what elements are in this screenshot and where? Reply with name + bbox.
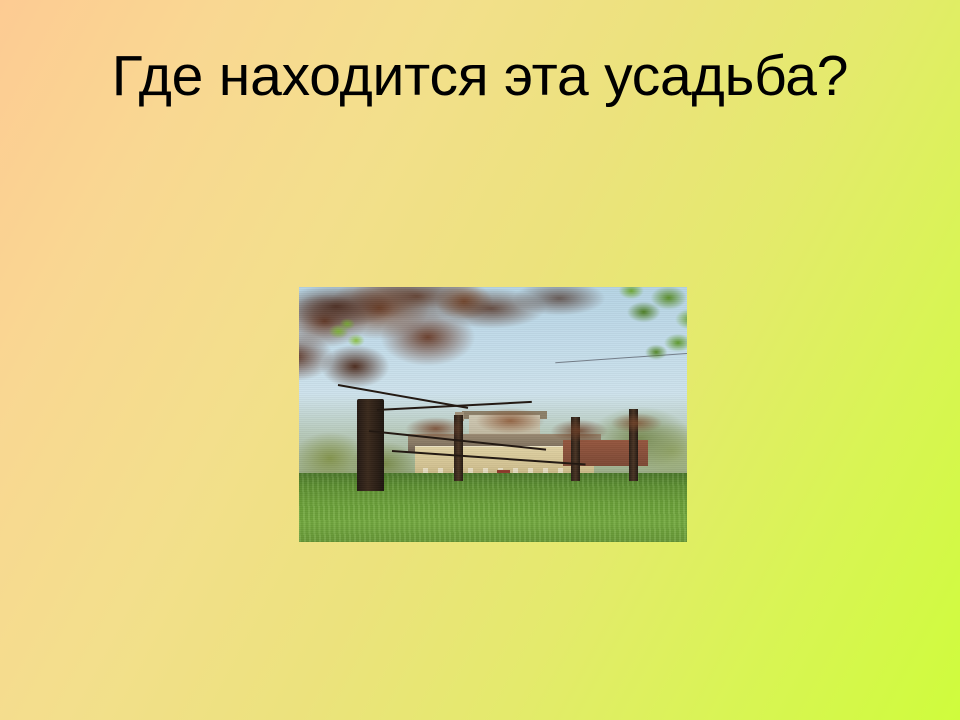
title-block: Где находится эта усадьба?	[60, 46, 900, 108]
presentation-slide: Где находится эта усадьба?	[0, 0, 960, 720]
photo-canvas	[299, 287, 687, 542]
page-title: Где находится эта усадьба?	[60, 46, 900, 108]
slide-photo	[299, 287, 687, 542]
right-green-canopy	[547, 287, 687, 397]
green-leaf-cluster	[322, 315, 376, 356]
